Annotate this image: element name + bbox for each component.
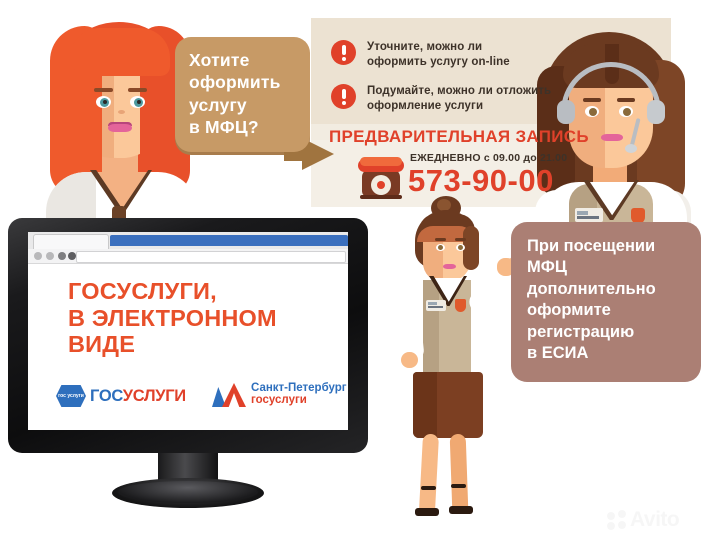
info-bullet-2: Подумайте, можно ли отложить оформление …: [331, 84, 571, 115]
headset-earcup-right: [647, 100, 665, 124]
nose: [118, 110, 125, 114]
screen-headline: ГОСУСЛУГИ, В ЭЛЕКТРОННОМ ВИДЕ: [68, 278, 277, 358]
iris-right: [458, 245, 463, 250]
spb-mark-icon: [212, 383, 246, 407]
spb-mark-red: [222, 383, 246, 407]
left-bubble-text: Хотите оформить услугу в МФЦ?: [189, 49, 296, 139]
telephone-icon: [358, 155, 404, 199]
spb-wordmark: Санкт-Петербург госуслуги: [251, 383, 347, 407]
poster-canvas: Хотите оформить услугу в МФЦ? Уточните, …: [0, 0, 717, 540]
avito-wordmark: Avito: [630, 508, 679, 532]
phone-handset-highlight: [360, 157, 402, 166]
headset-mic: [625, 144, 637, 153]
browser-tab-strip: [110, 235, 348, 246]
gosuslugi-wordmark: ГОСУСЛУГИ: [90, 387, 186, 406]
browser-tab[interactable]: [33, 234, 109, 249]
iris-left: [438, 245, 443, 250]
shoe-left: [415, 508, 439, 516]
eyebrow-right: [455, 238, 466, 241]
phone-number: 573-90-00: [408, 163, 554, 199]
vest-shadow: [423, 280, 439, 378]
lips: [601, 134, 623, 141]
badge-photo: [577, 211, 588, 215]
left-speech-bubble: Хотите оформить услугу в МФЦ?: [175, 37, 310, 152]
gosuslugi-word-uslugi: УСЛУГИ: [123, 387, 186, 405]
hair-side-strand: [463, 226, 479, 270]
shoe-right: [449, 506, 473, 514]
eyebrow-left: [435, 238, 446, 241]
gosuslugi-mark-text: гос услуги: [58, 394, 84, 399]
monitor-base-highlight: [118, 481, 258, 503]
spb-gosuslugi-logo: Санкт-Петербург госуслуги: [212, 383, 347, 407]
pupil-right: [137, 100, 141, 104]
preliminary-booking-heading: ПРЕДВАРИТЕЛЬНАЯ ЗАПИСЬ: [329, 127, 589, 147]
spb-line-2: госуслуги: [251, 395, 347, 407]
exclamation-icon: [331, 40, 356, 65]
badge-text-line: [577, 216, 599, 219]
shoe-strap-left: [421, 486, 436, 490]
info-bullet-1: Уточните, можно ли оформить услугу on-li…: [331, 40, 561, 71]
lower-lip: [108, 124, 132, 132]
shoe-strap-right: [451, 484, 466, 488]
uniform-emblem-icon: [455, 299, 466, 312]
exclamation-icon: [331, 84, 356, 109]
gosuslugi-word-gos: ГОС: [90, 387, 123, 405]
woman-pointing: [393, 196, 513, 526]
right-speech-bubble: При посещении МФЦ дополнительно оформите…: [511, 222, 701, 382]
forward-arrow-icon[interactable]: [46, 252, 54, 260]
eyebrow-right: [128, 88, 147, 92]
home-icon[interactable]: [68, 252, 76, 260]
info-bullet-2-text: Подумайте, можно ли отложить оформление …: [367, 84, 551, 115]
back-arrow-icon[interactable]: [34, 252, 42, 260]
badge-photo: [428, 302, 437, 305]
avito-watermark: Avito: [607, 508, 679, 532]
leg-right: [450, 434, 469, 513]
badge-text-line: [428, 306, 443, 308]
gosuslugi-logo: гос услуги ГОСУСЛУГИ: [56, 385, 186, 407]
skirt-shadow: [413, 372, 437, 438]
browser-url-input[interactable]: [76, 251, 346, 263]
pupil-left: [103, 100, 107, 104]
hair-fringe: [70, 28, 170, 76]
right-bubble-text: При посещении МФЦ дополнительно оформите…: [527, 236, 685, 365]
eyebrow-left: [94, 88, 113, 92]
woman-red-hair: [44, 14, 194, 219]
leg-left: [419, 434, 439, 513]
lips: [443, 264, 456, 269]
reload-icon[interactable]: [58, 252, 66, 260]
avito-dots-icon: [607, 510, 627, 530]
info-bullet-1-text: Уточните, можно ли оформить услугу on-li…: [367, 40, 510, 71]
phone-dial-center: [377, 181, 385, 189]
gosuslugi-mark-icon: гос услуги: [56, 385, 86, 407]
hand-on-hip: [401, 352, 418, 368]
